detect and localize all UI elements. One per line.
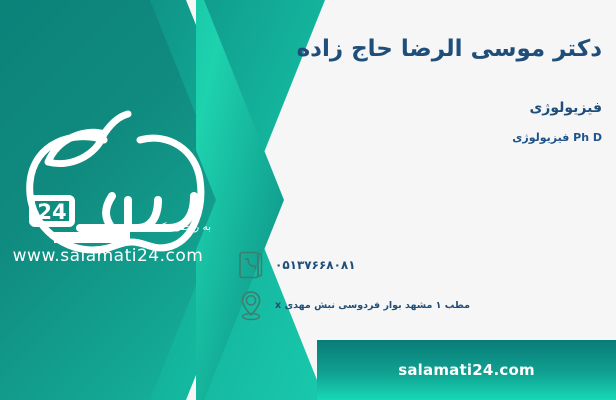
degree-field: فیزیولوژی [512,131,569,144]
doctor-specialty: فیزیولوژی [242,100,602,116]
footer-bar[interactable]: salamati24.com [317,340,616,400]
map-pin-icon [236,288,266,322]
business-card: 24 به راحتی یک لبخند www.salamati24.com … [0,0,616,400]
phone-book-icon [236,248,266,282]
brand-logo: 24 [8,104,218,264]
svg-text:24: 24 [37,200,66,224]
degree-title: Ph D [573,131,602,144]
contact-row-phone[interactable]: ۰۵۱۳۷۶۶۸۰۸۱ [236,248,606,282]
doctor-degree: Ph D فیزیولوژی [242,131,602,144]
address-text: مطب ۱ مشهد بوار فردوسی نبش مهدی x [275,300,470,311]
contact-row-address[interactable]: مطب ۱ مشهد بوار فردوسی نبش مهدی x [236,288,606,322]
footer-site: salamati24.com [398,361,535,379]
phone-number: ۰۵۱۳۷۶۶۸۰۸۱ [275,258,356,272]
brand-tagline: به راحتی یک لبخند [132,221,228,233]
doctor-name: دکتر موسی الرضا حاج زاده [242,36,602,64]
brand-url[interactable]: www.salamati24.com [8,246,208,266]
